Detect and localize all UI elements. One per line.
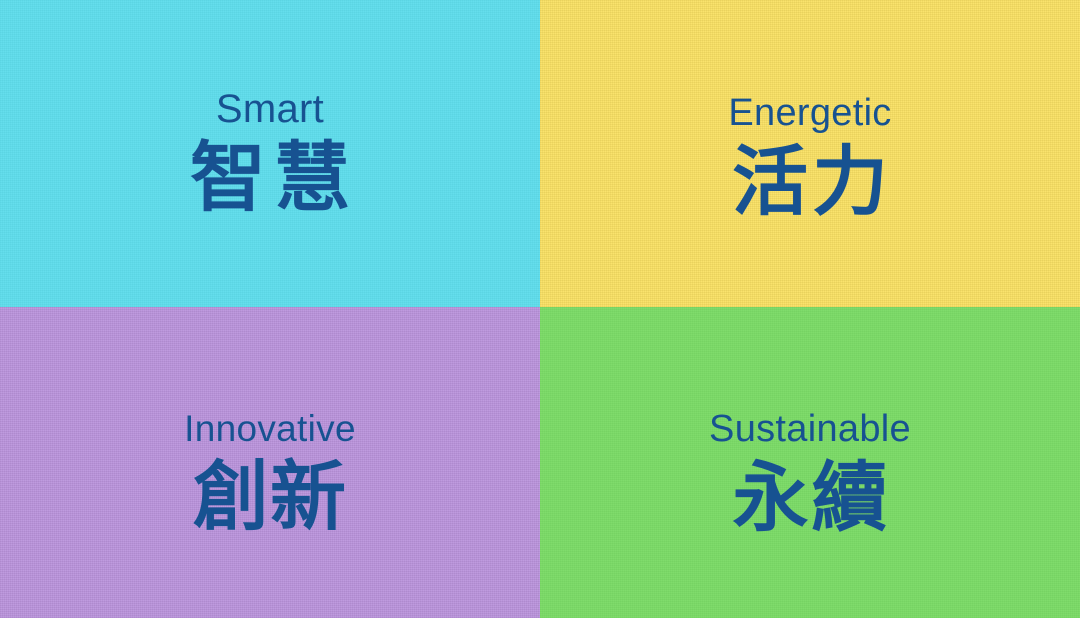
quadrant-label-en-energetic: Energetic xyxy=(728,94,891,134)
quadrant-label-zh-sustainable: 永續 xyxy=(730,456,891,541)
quadrant-text-stack-innovative: Innovative 創新 xyxy=(184,410,356,540)
quadrant-label-en-innovative: Innovative xyxy=(184,410,356,449)
brand-value-quadrant-board: Smart 智慧 Energetic 活力 Innovative 創新 Sust… xyxy=(0,0,1080,618)
quadrant-panel-innovative[interactable]: Innovative 創新 xyxy=(0,307,540,618)
quadrant-label-zh-energetic: 活力 xyxy=(728,140,892,225)
quadrant-text-stack-smart: Smart 智慧 xyxy=(182,88,358,221)
quadrant-label-zh-innovative: 創新 xyxy=(193,455,347,540)
quadrant-panel-energetic[interactable]: Energetic 活力 xyxy=(540,0,1080,307)
quadrant-panel-smart[interactable]: Smart 智慧 xyxy=(0,0,540,307)
quadrant-label-zh-smart: 智慧 xyxy=(182,136,358,221)
quadrant-text-stack-sustainable: Sustainable 永續 xyxy=(709,410,911,541)
quadrant-label-en-smart: Smart xyxy=(216,88,324,130)
quadrant-label-en-sustainable: Sustainable xyxy=(709,410,911,450)
quadrant-text-stack-energetic: Energetic 活力 xyxy=(728,94,892,225)
quadrant-panel-sustainable[interactable]: Sustainable 永續 xyxy=(540,307,1080,618)
